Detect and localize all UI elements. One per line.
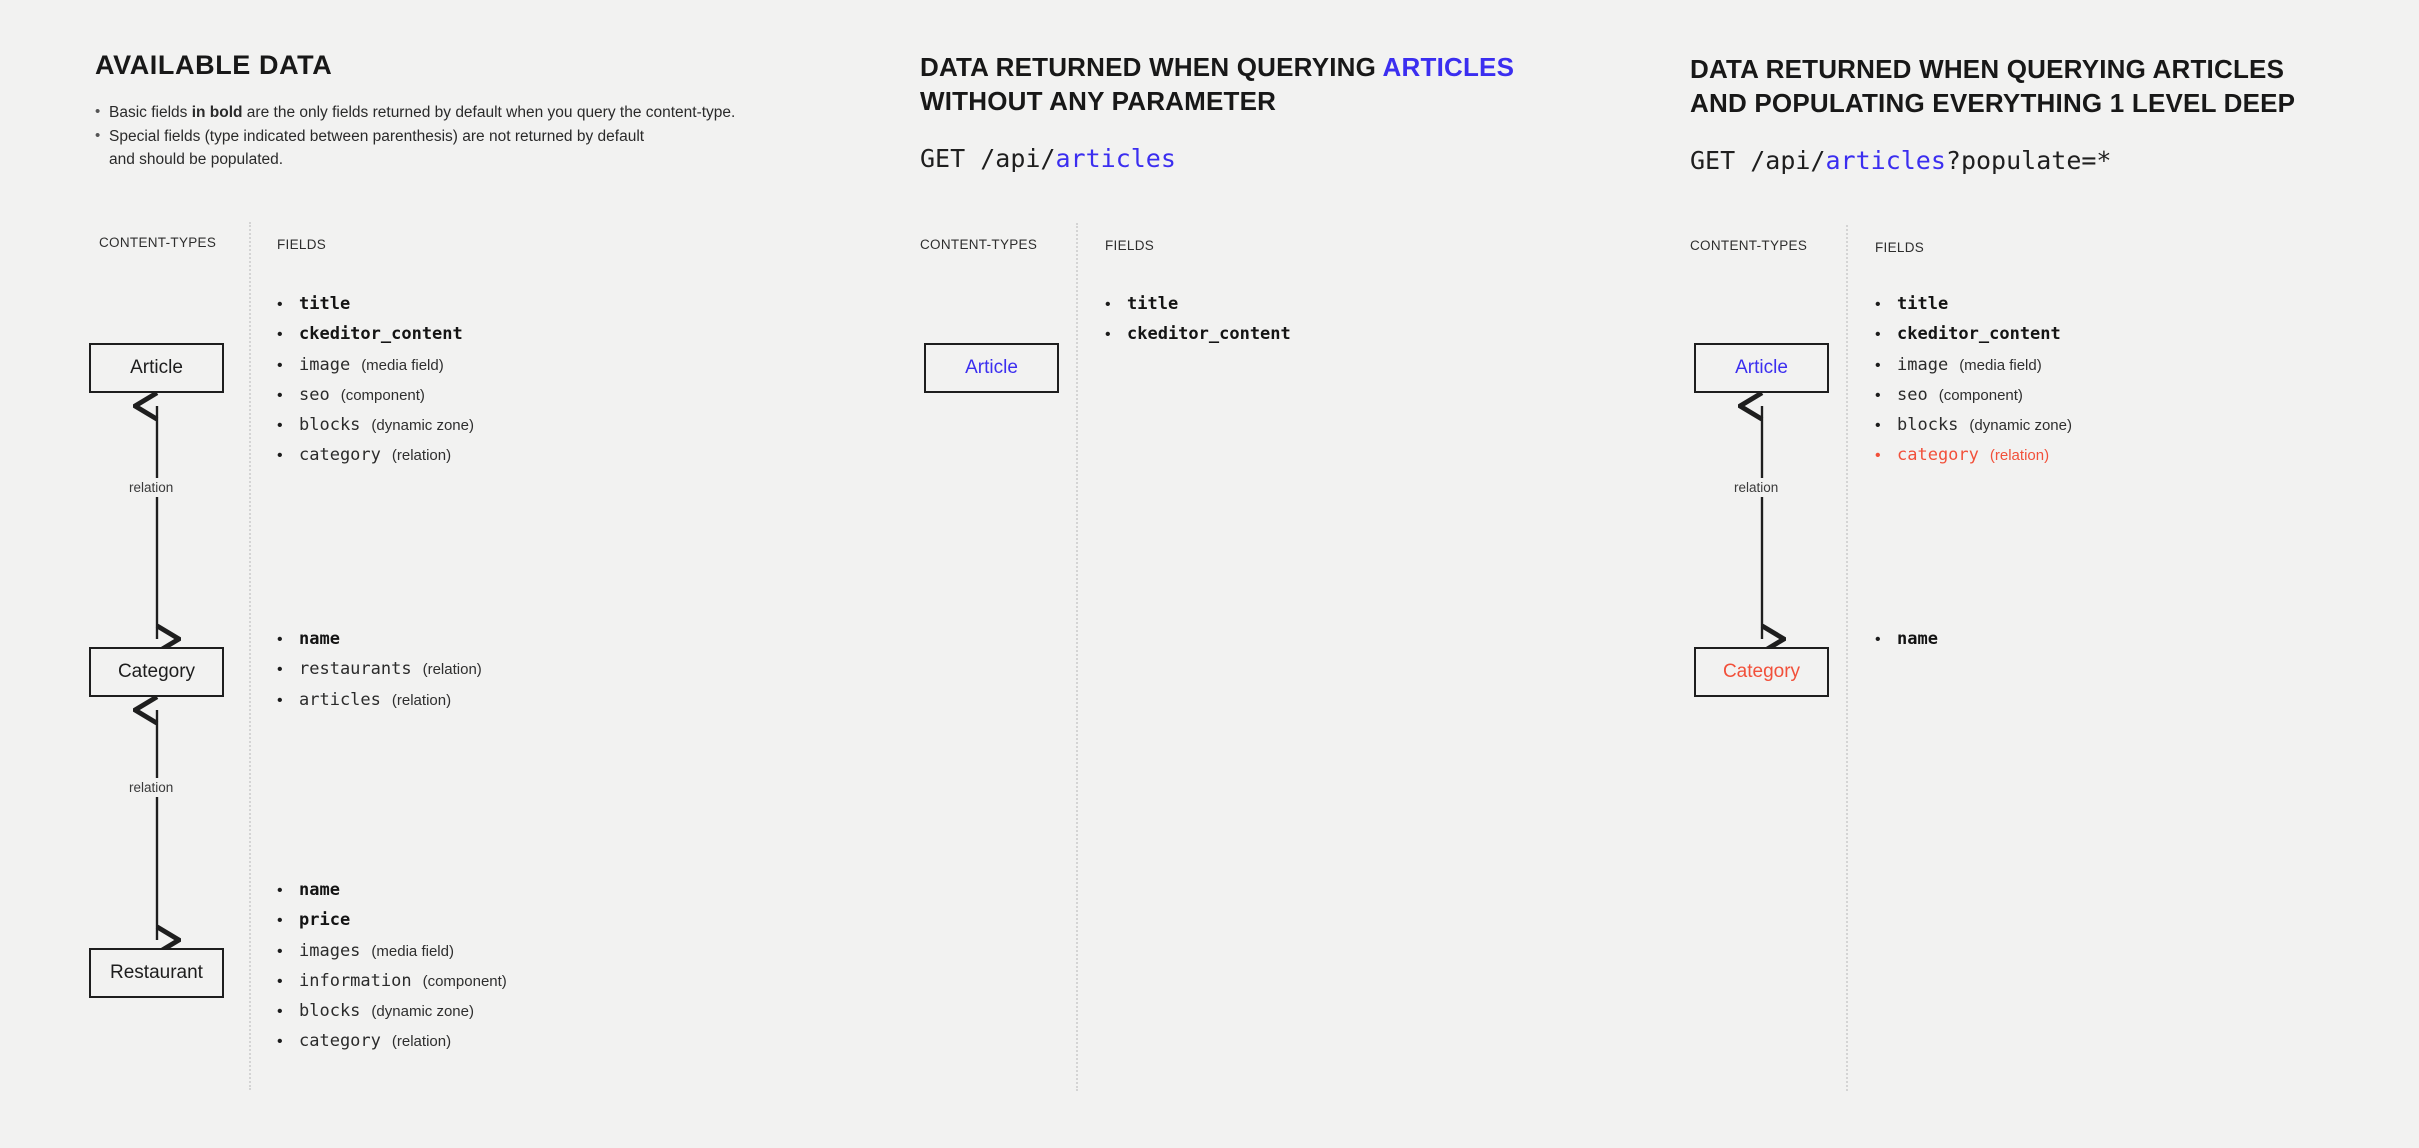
field-type: (relation) bbox=[392, 447, 451, 464]
page-title-available-data: AVAILABLE DATA bbox=[95, 48, 332, 84]
note-suffix: are the only fields returned by default … bbox=[243, 104, 736, 121]
field-row: •category(relation) bbox=[277, 445, 474, 475]
bullet-icon: • bbox=[1875, 418, 1897, 434]
bullet-icon: • bbox=[277, 358, 299, 374]
field-name: name bbox=[1897, 629, 1938, 649]
page-title-populate: DATA RETURNED WHEN QUERYING ARTICLESAND … bbox=[1690, 52, 2370, 121]
field-type: (relation) bbox=[392, 1033, 451, 1050]
field-name: title bbox=[1127, 294, 1178, 314]
field-row: •title bbox=[1875, 294, 2072, 324]
field-name: category bbox=[1897, 445, 1979, 465]
legend-note-special-fields-cont: and should be populated. bbox=[95, 148, 855, 172]
field-row: •information(component) bbox=[277, 971, 507, 1001]
fields-list-category: •name•restaurants(relation)•articles(rel… bbox=[277, 629, 482, 720]
column-header-fields: FIELDS bbox=[1875, 240, 1924, 255]
panel-available-data: AVAILABLE DATA • Basic fields in bold ar… bbox=[0, 0, 1075, 1148]
field-name: seo bbox=[299, 385, 330, 405]
field-row: •title bbox=[1105, 294, 1291, 324]
bullet-icon: • bbox=[277, 944, 299, 960]
bullet-icon: • bbox=[1105, 297, 1127, 313]
field-name: ckeditor_content bbox=[1897, 324, 2061, 344]
bullet-icon: • bbox=[1875, 297, 1897, 313]
content-type-label: Category bbox=[1723, 661, 1800, 683]
content-type-box-article[interactable]: Article bbox=[89, 343, 224, 393]
title-text-part-2: WITHOUT ANY PARAMETER bbox=[920, 86, 1276, 116]
legend-note-text: Basic fields in bold are the only fields… bbox=[109, 101, 855, 125]
bullet-icon: • bbox=[277, 1034, 299, 1050]
endpoint-prefix: /api/ bbox=[1750, 146, 1825, 175]
relation-arrow-category-restaurant bbox=[130, 697, 185, 954]
double-arrow-icon bbox=[1735, 393, 1790, 648]
field-row: •ckeditor_content bbox=[1875, 324, 2072, 354]
field-name: price bbox=[299, 910, 350, 930]
column-divider bbox=[1846, 225, 1848, 1091]
bullet-spacer bbox=[95, 148, 109, 171]
column-divider bbox=[1076, 223, 1078, 1091]
bullet-icon: • bbox=[95, 101, 109, 124]
bullet-icon: • bbox=[277, 662, 299, 678]
field-row: •image(media field) bbox=[277, 355, 474, 385]
field-name: blocks bbox=[1897, 415, 1958, 435]
field-type: (dynamic zone) bbox=[371, 417, 474, 434]
content-type-label: Category bbox=[118, 661, 195, 683]
column-header-content-types: CONTENT-TYPES bbox=[99, 235, 216, 250]
bullet-icon: • bbox=[1875, 358, 1897, 374]
field-row: •articles(relation) bbox=[277, 690, 482, 720]
field-type: (relation) bbox=[423, 661, 482, 678]
field-name: articles bbox=[299, 690, 381, 710]
bullet-icon: • bbox=[277, 632, 299, 648]
field-name: image bbox=[1897, 355, 1948, 375]
endpoint-prefix: /api/ bbox=[980, 144, 1055, 173]
field-row: •ckeditor_content bbox=[277, 324, 474, 354]
fields-list-article: •title•ckeditor_content•image(media fiel… bbox=[1875, 294, 2072, 476]
field-name: image bbox=[299, 355, 350, 375]
field-row: •category(relation) bbox=[277, 1031, 507, 1061]
bullet-icon: • bbox=[1875, 327, 1897, 343]
bullet-icon: • bbox=[277, 1004, 299, 1020]
field-type: (media field) bbox=[361, 357, 444, 374]
bullet-icon: • bbox=[1105, 327, 1127, 343]
content-type-box-restaurant[interactable]: Restaurant bbox=[89, 948, 224, 998]
column-header-fields: FIELDS bbox=[1105, 238, 1154, 253]
legend-note-basic-fields: • Basic fields in bold are the only fiel… bbox=[95, 101, 855, 125]
field-row: •price bbox=[277, 910, 507, 940]
bullet-icon: • bbox=[1875, 388, 1897, 404]
title-accent-articles: ARTICLES bbox=[1383, 52, 1515, 82]
bullet-icon: • bbox=[277, 418, 299, 434]
relation-arrow-article-category bbox=[1735, 393, 1790, 653]
fields-list-restaurant: •name•price•images(media field)•informat… bbox=[277, 880, 507, 1062]
field-type: (component) bbox=[423, 973, 507, 990]
field-type: (media field) bbox=[371, 943, 454, 960]
field-name: ckeditor_content bbox=[299, 324, 463, 344]
bullet-icon: • bbox=[277, 327, 299, 343]
http-method: GET bbox=[920, 144, 980, 173]
field-type: (dynamic zone) bbox=[1969, 417, 2072, 434]
field-row: •ckeditor_content bbox=[1105, 324, 1291, 354]
field-row: •category(relation) bbox=[1875, 445, 2072, 475]
field-row: •images(media field) bbox=[277, 941, 507, 971]
field-name: blocks bbox=[299, 415, 360, 435]
column-divider bbox=[249, 222, 251, 1090]
field-row: •seo(component) bbox=[277, 385, 474, 415]
page-title-no-parameter: DATA RETURNED WHEN QUERYING ARTICLESWITH… bbox=[920, 50, 1620, 119]
field-row: •seo(component) bbox=[1875, 385, 2072, 415]
endpoint-get-articles: GET /api/articles bbox=[920, 144, 1176, 173]
bullet-icon: • bbox=[95, 125, 109, 148]
legend-note-special-fields: • Special fields (type indicated between… bbox=[95, 125, 855, 149]
bullet-icon: • bbox=[1875, 632, 1897, 648]
double-arrow-icon bbox=[130, 393, 185, 648]
column-header-fields: FIELDS bbox=[277, 237, 326, 252]
field-row: •name bbox=[1875, 629, 1938, 659]
field-row: •image(media field) bbox=[1875, 355, 2072, 385]
legend-note-text: and should be populated. bbox=[109, 148, 855, 172]
field-type: (component) bbox=[341, 387, 425, 404]
bullet-icon: • bbox=[277, 297, 299, 313]
field-type: (media field) bbox=[1959, 357, 2042, 374]
content-type-box-article[interactable]: Article bbox=[1694, 343, 1829, 393]
endpoint-get-articles-populate: GET /api/articles?populate=* bbox=[1690, 146, 2111, 175]
relation-label: relation bbox=[124, 478, 178, 497]
field-name: images bbox=[299, 941, 360, 961]
bullet-icon: • bbox=[277, 883, 299, 899]
field-row: •title bbox=[277, 294, 474, 324]
content-type-label: Article bbox=[1735, 357, 1788, 379]
bullet-icon: • bbox=[277, 448, 299, 464]
content-type-box-category[interactable]: Category bbox=[1694, 647, 1829, 697]
field-row: •restaurants(relation) bbox=[277, 659, 482, 689]
endpoint-resource: articles bbox=[1825, 146, 1945, 175]
field-type: (dynamic zone) bbox=[371, 1003, 474, 1020]
field-name: title bbox=[299, 294, 350, 314]
field-name: blocks bbox=[299, 1001, 360, 1021]
title-text-line-1: DATA RETURNED WHEN QUERYING ARTICLES bbox=[1690, 54, 2284, 84]
relation-label: relation bbox=[124, 778, 178, 797]
field-row: •blocks(dynamic zone) bbox=[277, 1001, 507, 1031]
column-header-content-types: CONTENT-TYPES bbox=[920, 237, 1037, 252]
note-bold: in bold bbox=[192, 104, 243, 121]
content-type-label: Article bbox=[130, 357, 183, 379]
field-name: name bbox=[299, 629, 340, 649]
relation-label: relation bbox=[1729, 478, 1783, 497]
double-arrow-icon bbox=[130, 697, 185, 949]
field-row: •blocks(dynamic zone) bbox=[1875, 415, 2072, 445]
legend-note-text: Special fields (type indicated between p… bbox=[109, 125, 855, 149]
fields-list-category: •name bbox=[1875, 629, 1938, 659]
field-row: •name bbox=[277, 629, 482, 659]
field-name: name bbox=[299, 880, 340, 900]
field-name: seo bbox=[1897, 385, 1928, 405]
field-type: (relation) bbox=[1990, 447, 2049, 464]
relation-arrow-article-category bbox=[130, 393, 185, 653]
bullet-icon: • bbox=[277, 913, 299, 929]
field-name: category bbox=[299, 1031, 381, 1051]
content-type-box-article[interactable]: Article bbox=[924, 343, 1059, 393]
field-row: •name bbox=[277, 880, 507, 910]
field-type: (component) bbox=[1939, 387, 2023, 404]
bullet-icon: • bbox=[277, 388, 299, 404]
content-type-label: Restaurant bbox=[110, 962, 203, 984]
column-header-content-types: CONTENT-TYPES bbox=[1690, 238, 1807, 253]
bullet-icon: • bbox=[277, 974, 299, 990]
field-type: (relation) bbox=[392, 692, 451, 709]
field-row: •blocks(dynamic zone) bbox=[277, 415, 474, 445]
field-name: ckeditor_content bbox=[1127, 324, 1291, 344]
endpoint-resource: articles bbox=[1055, 144, 1175, 173]
field-name: information bbox=[299, 971, 412, 991]
http-method: GET bbox=[1690, 146, 1750, 175]
field-name: category bbox=[299, 445, 381, 465]
note-prefix: Basic fields bbox=[109, 104, 192, 121]
content-type-box-category[interactable]: Category bbox=[89, 647, 224, 697]
field-name: restaurants bbox=[299, 659, 412, 679]
legend-notes: • Basic fields in bold are the only fiel… bbox=[95, 101, 855, 172]
title-text-part-1: DATA RETURNED WHEN QUERYING bbox=[920, 52, 1383, 82]
field-name: title bbox=[1897, 294, 1948, 314]
bullet-icon: • bbox=[277, 693, 299, 709]
content-type-label: Article bbox=[965, 357, 1018, 379]
bullet-icon: • bbox=[1875, 448, 1897, 464]
panel-populate-one-level: DATA RETURNED WHEN QUERYING ARTICLESAND … bbox=[1690, 0, 2419, 1148]
fields-list-article: •title•ckeditor_content bbox=[1105, 294, 1291, 355]
fields-list-article: •title•ckeditor_content•image(media fiel… bbox=[277, 294, 474, 476]
endpoint-query: ?populate=* bbox=[1946, 146, 2112, 175]
title-text-line-2: AND POPULATING EVERYTHING 1 LEVEL DEEP bbox=[1690, 88, 2295, 118]
